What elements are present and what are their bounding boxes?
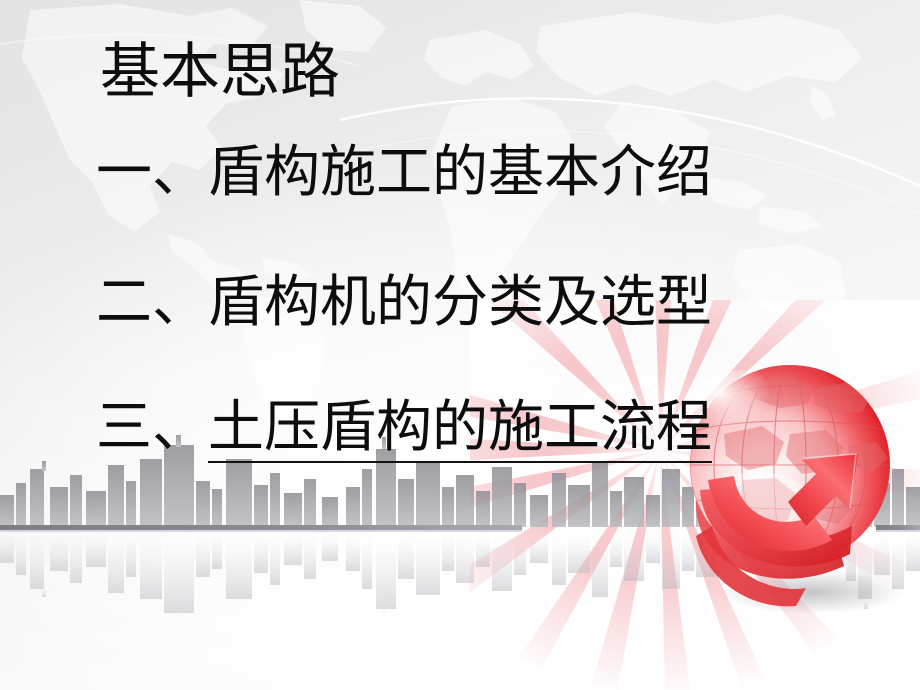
agenda-item-2-number: 二、 (96, 275, 208, 331)
agenda-item-2-text: 盾构机的分类及选型 (208, 272, 712, 334)
agenda-item-3-number: 三、 (96, 400, 208, 456)
page-title: 基本思路 (100, 42, 340, 102)
agenda-item-3-text: 土压盾构的施工流程 (208, 400, 712, 463)
agenda-item-2: 二、盾构机的分类及选型 (96, 275, 712, 331)
presentation-slide: 基本思路 一、盾构施工的基本介绍 二、盾构机的分类及选型 三、土压盾构的施工流程 (0, 0, 920, 690)
agenda-item-1: 一、盾构施工的基本介绍 (96, 145, 712, 201)
agenda-item-1-number: 一、 (96, 145, 208, 201)
agenda-item-1-text: 盾构施工的基本介绍 (208, 142, 712, 204)
agenda-item-3: 三、土压盾构的施工流程 (96, 400, 712, 463)
